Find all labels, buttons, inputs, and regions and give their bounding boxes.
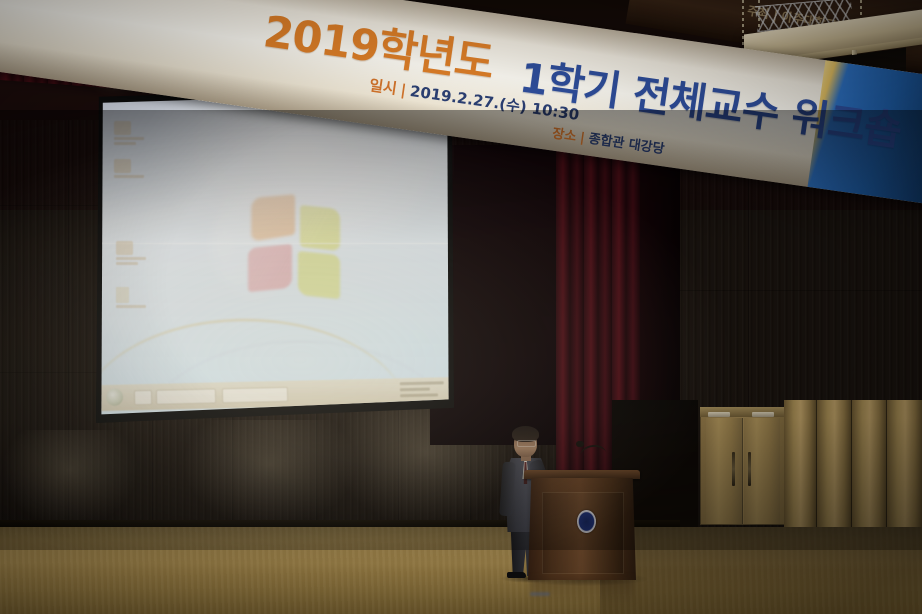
door-handle-left[interactable] — [732, 452, 735, 486]
door-closer-left — [708, 412, 730, 417]
lectern-podium — [528, 470, 636, 580]
podium-front-panel — [542, 492, 624, 574]
podium-floor-reflection — [530, 578, 634, 604]
door-closer-right — [752, 412, 774, 417]
podium-top-surface — [524, 470, 640, 479]
auditorium-photo-scene: 대강당 주최 | 아주대학교 1973 UNIVERSITY 2019학년도 1… — [0, 0, 922, 614]
taskbar-quicklaunch-icon[interactable] — [134, 390, 152, 405]
screen-fabric-seam — [100, 243, 450, 244]
taskbar-window-button[interactable] — [156, 388, 216, 404]
podium-university-emblem-icon — [577, 510, 596, 533]
door-leaf-left[interactable] — [706, 418, 742, 524]
system-tray-clock[interactable] — [400, 381, 450, 400]
floor-gloss-reflection — [0, 527, 922, 614]
start-button-icon[interactable] — [106, 389, 123, 406]
windows-logo-sheen — [210, 181, 380, 311]
wall-seam-horizontal — [660, 290, 922, 291]
taskbar-window-button[interactable] — [222, 387, 288, 403]
door-center-gap — [742, 418, 743, 524]
folding-wall-partition — [784, 400, 922, 528]
door-handle-right[interactable] — [748, 452, 751, 486]
gooseneck-microphone-head-icon — [576, 441, 584, 447]
banner-datetime-label: 일시 — [368, 76, 398, 98]
desktop-icon[interactable] — [116, 287, 146, 308]
banner-datetime-separator: | — [399, 81, 407, 100]
desktop-icon[interactable] — [116, 241, 146, 265]
speaker-eyeglasses-icon — [517, 440, 536, 447]
banner-location-separator: | — [579, 130, 586, 146]
banner-location-label: 장소 — [551, 127, 577, 145]
wall-light-pool — [0, 430, 140, 530]
speaker-shoe — [507, 572, 526, 578]
